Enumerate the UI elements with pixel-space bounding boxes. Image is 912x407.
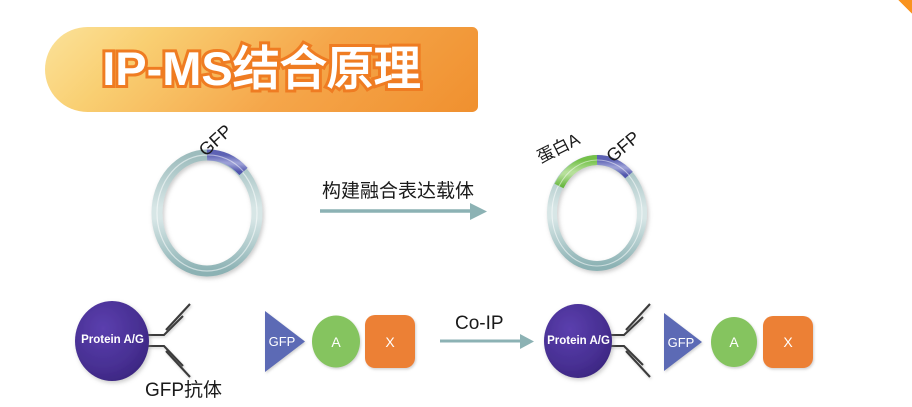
prey-x-square xyxy=(763,316,813,368)
tag-gfp-triangle xyxy=(664,313,702,371)
antibody-gfp-label: GFP抗体 xyxy=(145,375,222,402)
plasmid-fusion xyxy=(552,160,642,266)
antibody-stroke xyxy=(166,304,190,330)
plasmid-gfp xyxy=(157,155,257,271)
complex-bead-antibody xyxy=(75,301,190,381)
antibody-stroke xyxy=(626,304,650,330)
antibody-stroke xyxy=(166,351,190,377)
arrow-head xyxy=(520,334,534,349)
bead-protein-ag xyxy=(75,301,149,381)
diagram-artwork xyxy=(0,0,912,407)
arrow-co-ip xyxy=(440,334,534,349)
antibody-stroke xyxy=(626,351,650,377)
arrow-construct-vector-label: 构建融合表达载体 xyxy=(322,176,474,203)
arrow-head xyxy=(470,203,487,220)
fusion-protein-complex xyxy=(265,311,415,372)
bait-a-circle xyxy=(312,316,360,368)
complex-co-ip-pulldown xyxy=(544,304,813,378)
prey-x-square xyxy=(365,315,415,368)
bait-a-circle xyxy=(711,317,757,367)
arrow-co-ip-label: Co-IP xyxy=(455,313,504,335)
diagram-canvas: IP-MS结合原理 xyxy=(0,0,912,407)
tag-gfp-triangle xyxy=(265,311,305,372)
bead-protein-ag xyxy=(544,304,612,378)
plasmid-segment-protein-a xyxy=(559,160,597,186)
arrow-construct-vector xyxy=(320,203,487,220)
